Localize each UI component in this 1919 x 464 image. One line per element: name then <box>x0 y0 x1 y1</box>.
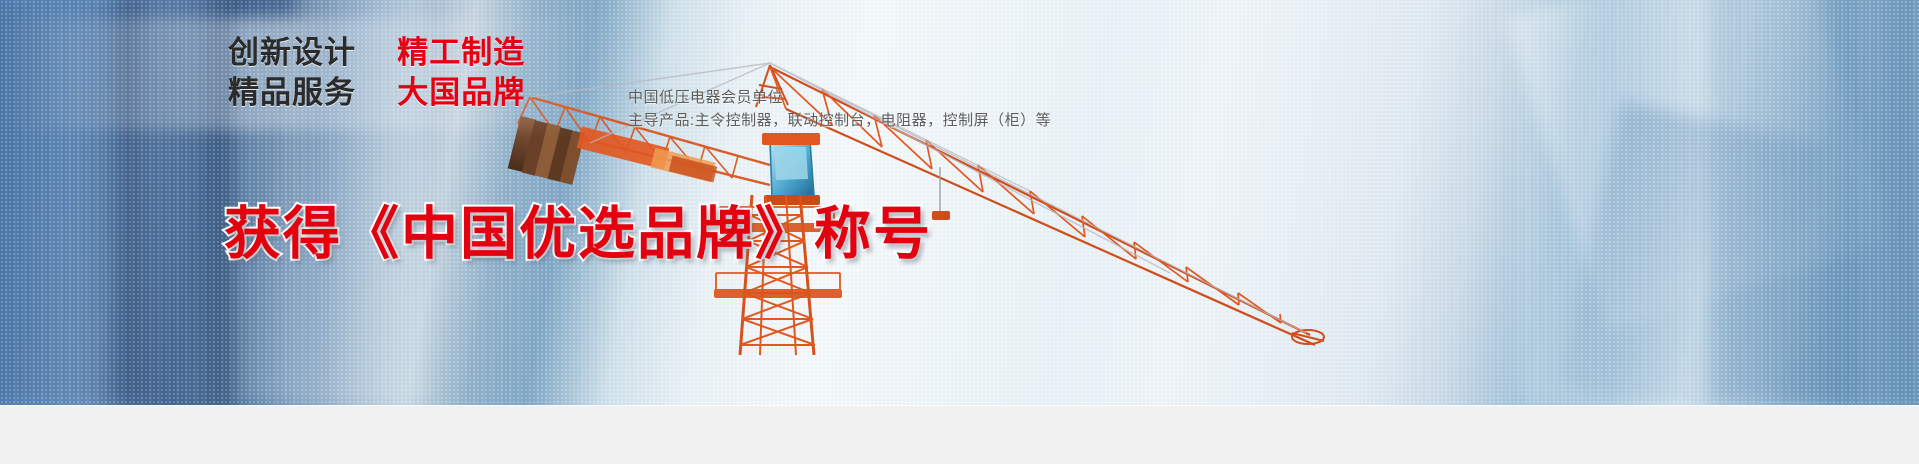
footer-strip <box>0 405 1919 464</box>
slogan-line-1-red: 精工制造 <box>397 35 525 70</box>
slogan-block: 创新设计 精工制造 精品服务 大国品牌 <box>228 36 528 110</box>
company-info-block: 中国低压电器会员单位 主导产品:主令控制器，联动控制台，电阻器，控制屏（柜）等 <box>628 86 1051 133</box>
slogan-line-1: 创新设计 精工制造 <box>228 36 528 69</box>
slogan-line-2-dark: 精品服务 <box>228 75 356 110</box>
info-line-products: 主导产品:主令控制器，联动控制台，电阻器，控制屏（柜）等 <box>628 109 1051 132</box>
slogan-line-1-dark: 创新设计 <box>228 35 356 70</box>
headline-award-title: 获得《中国优选品牌》称号 <box>224 188 932 270</box>
slogan-line-2-red: 大国品牌 <box>397 75 525 110</box>
info-line-membership: 中国低压电器会员单位 <box>628 86 1051 109</box>
promo-banner: 创新设计 精工制造 精品服务 大国品牌 中国低压电器会员单位 主导产品:主令控制… <box>0 0 1919 464</box>
slogan-line-2: 精品服务 大国品牌 <box>228 76 528 109</box>
